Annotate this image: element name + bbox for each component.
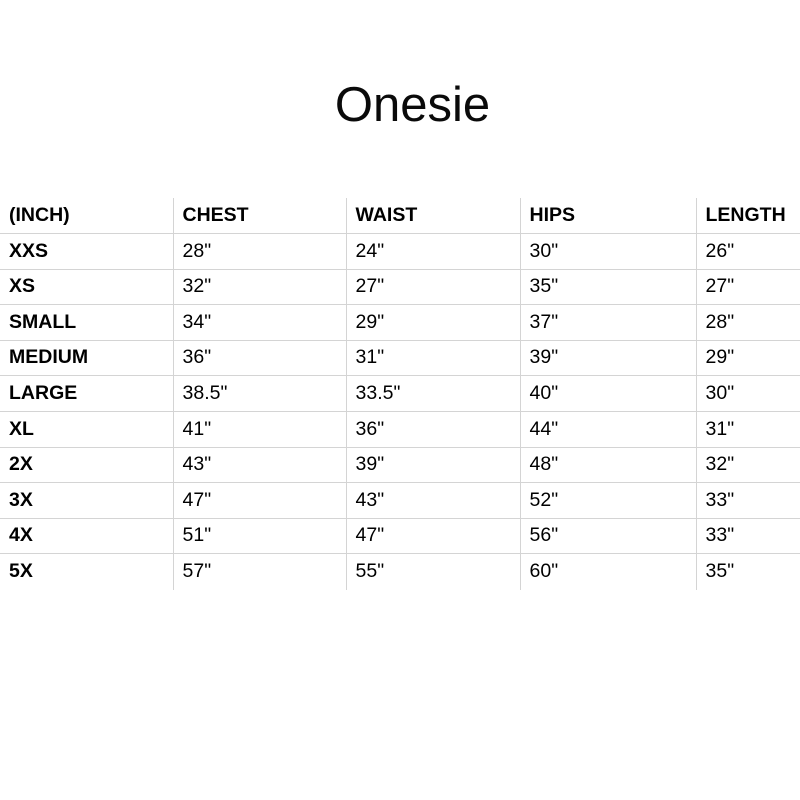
table-row: 2X 43" 39" 48" 32" bbox=[0, 447, 800, 483]
cell-hips: 60" bbox=[520, 554, 696, 590]
table-row: MEDIUM 36" 31" 39" 29" bbox=[0, 340, 800, 376]
cell-length: 27" bbox=[696, 269, 800, 305]
table-row: SMALL 34" 29" 37" 28" bbox=[0, 305, 800, 341]
cell-chest: 47" bbox=[173, 483, 346, 519]
table-row: 5X 57" 55" 60" 35" bbox=[0, 554, 800, 590]
cell-size: SMALL bbox=[0, 305, 173, 341]
table-row: XXS 28" 24" 30" 26" bbox=[0, 234, 800, 270]
cell-length: 30" bbox=[696, 376, 800, 412]
cell-chest: 51" bbox=[173, 518, 346, 554]
cell-chest: 41" bbox=[173, 412, 346, 448]
cell-length: 33" bbox=[696, 483, 800, 519]
cell-chest: 36" bbox=[173, 340, 346, 376]
cell-length: 32" bbox=[696, 447, 800, 483]
cell-waist: 39" bbox=[346, 447, 520, 483]
cell-hips: 35" bbox=[520, 269, 696, 305]
column-header-unit: (INCH) bbox=[0, 198, 173, 234]
cell-chest: 43" bbox=[173, 447, 346, 483]
table-header: (INCH) CHEST WAIST HIPS LENGTH bbox=[0, 198, 800, 234]
cell-waist: 47" bbox=[346, 518, 520, 554]
cell-hips: 48" bbox=[520, 447, 696, 483]
cell-waist: 43" bbox=[346, 483, 520, 519]
table-header-row: (INCH) CHEST WAIST HIPS LENGTH bbox=[0, 198, 800, 234]
cell-hips: 39" bbox=[520, 340, 696, 376]
table-body: XXS 28" 24" 30" 26" XS 32" 27" 35" 27" S… bbox=[0, 234, 800, 590]
cell-chest: 28" bbox=[173, 234, 346, 270]
cell-size: 5X bbox=[0, 554, 173, 590]
table-row: LARGE 38.5" 33.5" 40" 30" bbox=[0, 376, 800, 412]
column-header-length: LENGTH bbox=[696, 198, 800, 234]
cell-chest: 38.5" bbox=[173, 376, 346, 412]
size-chart-page: Onesie (INCH) CHEST WAIST HIPS LENGTH bbox=[0, 0, 800, 800]
cell-size: XXS bbox=[0, 234, 173, 270]
cell-length: 31" bbox=[696, 412, 800, 448]
cell-size: 2X bbox=[0, 447, 173, 483]
cell-chest: 32" bbox=[173, 269, 346, 305]
cell-waist: 36" bbox=[346, 412, 520, 448]
cell-size: 3X bbox=[0, 483, 173, 519]
cell-length: 29" bbox=[696, 340, 800, 376]
column-header-waist: WAIST bbox=[346, 198, 520, 234]
cell-length: 26" bbox=[696, 234, 800, 270]
cell-waist: 55" bbox=[346, 554, 520, 590]
column-header-chest: CHEST bbox=[173, 198, 346, 234]
cell-waist: 33.5" bbox=[346, 376, 520, 412]
cell-waist: 24" bbox=[346, 234, 520, 270]
table-row: 4X 51" 47" 56" 33" bbox=[0, 518, 800, 554]
cell-hips: 30" bbox=[520, 234, 696, 270]
cell-waist: 29" bbox=[346, 305, 520, 341]
table-row: 3X 47" 43" 52" 33" bbox=[0, 483, 800, 519]
cell-size: XS bbox=[0, 269, 173, 305]
cell-size: XL bbox=[0, 412, 173, 448]
table-row: XS 32" 27" 35" 27" bbox=[0, 269, 800, 305]
column-header-hips: HIPS bbox=[520, 198, 696, 234]
size-chart-container: (INCH) CHEST WAIST HIPS LENGTH XXS 28" 2… bbox=[0, 198, 800, 590]
cell-waist: 27" bbox=[346, 269, 520, 305]
cell-chest: 34" bbox=[173, 305, 346, 341]
cell-size: MEDIUM bbox=[0, 340, 173, 376]
cell-hips: 37" bbox=[520, 305, 696, 341]
cell-size: 4X bbox=[0, 518, 173, 554]
cell-hips: 44" bbox=[520, 412, 696, 448]
cell-waist: 31" bbox=[346, 340, 520, 376]
cell-length: 33" bbox=[696, 518, 800, 554]
cell-size: LARGE bbox=[0, 376, 173, 412]
size-chart-table: (INCH) CHEST WAIST HIPS LENGTH XXS 28" 2… bbox=[0, 198, 800, 590]
cell-length: 28" bbox=[696, 305, 800, 341]
cell-hips: 40" bbox=[520, 376, 696, 412]
table-row: XL 41" 36" 44" 31" bbox=[0, 412, 800, 448]
cell-length: 35" bbox=[696, 554, 800, 590]
cell-hips: 56" bbox=[520, 518, 696, 554]
cell-chest: 57" bbox=[173, 554, 346, 590]
cell-hips: 52" bbox=[520, 483, 696, 519]
page-title: Onesie bbox=[0, 81, 800, 130]
